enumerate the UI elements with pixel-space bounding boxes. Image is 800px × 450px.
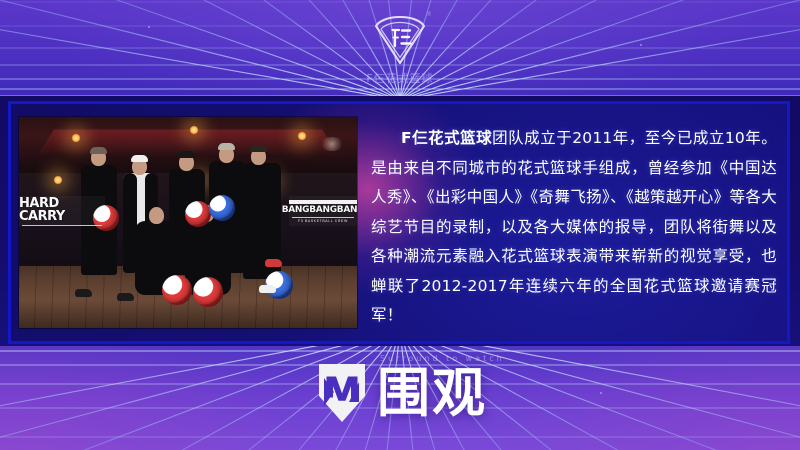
wall-lamp <box>53 175 63 185</box>
light-glare <box>319 137 345 151</box>
poster-canvas: ® F仨花式篮球 <box>0 0 800 450</box>
photo-figure-cap <box>90 147 107 154</box>
basketball <box>185 201 211 227</box>
ceiling-lamp <box>71 133 81 143</box>
photo-figure-cap <box>131 155 148 162</box>
overlay-left-title: HARD CARRY <box>19 197 105 223</box>
sparkle-dot <box>148 26 150 28</box>
photo-figure-cap <box>250 145 267 152</box>
photo-figure-cap <box>178 151 195 158</box>
photo-overlay-left: HARD CARRY PERFORMANCE VIDEO <box>19 196 105 226</box>
sparkle-dot <box>640 44 642 46</box>
content-panel: HARD CARRY PERFORMANCE VIDEO BANGBANGBAN… <box>8 101 790 344</box>
overlay-right-title: BANGBANGBANG <box>282 206 357 215</box>
description-body: 团队成立于2011年，至今已成立10年。是由来自不同城市的花式篮球手组成，曾经参… <box>371 129 777 324</box>
team-group-photo: HARD CARRY PERFORMANCE VIDEO BANGBANGBAN… <box>19 117 357 328</box>
photo-figure-head <box>149 207 164 224</box>
panel-content-row: HARD CARRY PERFORMANCE VIDEO BANGBANGBAN… <box>11 104 787 341</box>
sparkle-dot <box>600 392 602 394</box>
shoe <box>259 285 276 293</box>
shoe <box>75 289 92 297</box>
ceiling-lamp <box>297 131 307 141</box>
ceiling-lamp <box>189 125 199 135</box>
overlay-left-subtitle: PERFORMANCE VIDEO <box>22 225 101 227</box>
overlay-bar <box>289 200 357 204</box>
shoe <box>117 293 134 301</box>
basketball <box>209 195 235 221</box>
description-lead: F仨花式篮球 <box>401 129 492 147</box>
basketball <box>193 277 223 307</box>
overlay-right-subtitle: F3 BASKETBALL CREW <box>292 217 355 223</box>
photo-overlay-right: BANGBANGBANG F3 BASKETBALL CREW <box>289 196 357 226</box>
photo-figure-cap <box>218 143 235 150</box>
basketball <box>162 275 192 305</box>
shoe <box>265 259 282 267</box>
description-text: F仨花式篮球团队成立于2011年，至今已成立10年。是由来自不同城市的花式篮球手… <box>357 104 787 341</box>
